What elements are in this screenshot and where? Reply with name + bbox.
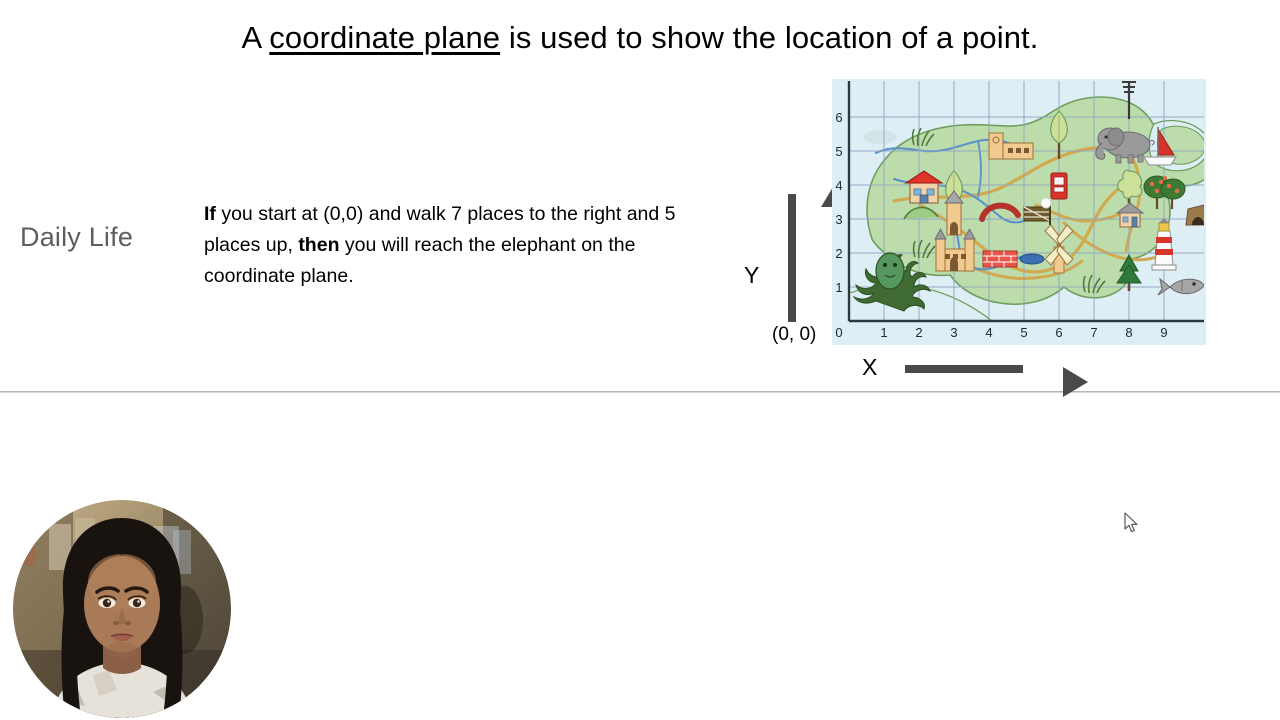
- svg-text:6: 6: [835, 110, 842, 125]
- svg-text:7: 7: [1090, 325, 1097, 340]
- svg-text:4: 4: [985, 325, 992, 340]
- svg-text:2: 2: [835, 246, 842, 261]
- body-lead-bold: If: [204, 203, 216, 225]
- title-emphasis: coordinate plane: [269, 20, 500, 55]
- x-axis-annotation: X: [862, 352, 1062, 392]
- y-axis-label: Y: [744, 262, 759, 289]
- svg-text:6: 6: [1055, 325, 1062, 340]
- svg-text:1: 1: [880, 325, 887, 340]
- svg-text:5: 5: [1020, 325, 1027, 340]
- svg-text:3: 3: [950, 325, 957, 340]
- section-divider: [0, 391, 1280, 392]
- svg-text:8: 8: [1125, 325, 1132, 340]
- svg-text:9: 9: [1160, 325, 1167, 340]
- presenter-video-thumbnail[interactable]: [13, 500, 231, 718]
- svg-text:2: 2: [915, 325, 922, 340]
- body-paragraph: If you start at (0,0) and walk 7 places …: [204, 199, 710, 292]
- coordinate-plane-map: 0 1 2 3 4 5 6 7 8 9 1 2 3 4 5 6: [832, 79, 1206, 345]
- category-label: Daily Life: [20, 222, 133, 253]
- title-prefix: A: [242, 20, 270, 55]
- title-suffix: is used to show the location of a point.: [500, 20, 1038, 55]
- svg-text:3: 3: [835, 212, 842, 227]
- body-mid-bold: then: [298, 234, 339, 256]
- page-title: A coordinate plane is used to show the l…: [0, 20, 1280, 56]
- x-axis-label: X: [862, 354, 877, 381]
- up-arrow-icon: [788, 194, 796, 322]
- right-arrow-icon: [905, 365, 1023, 373]
- svg-text:5: 5: [835, 144, 842, 159]
- right-arrow-head-icon: [1063, 367, 1088, 397]
- svg-text:1: 1: [835, 280, 842, 295]
- origin-label: (0, 0): [772, 324, 816, 346]
- svg-text:0: 0: [835, 325, 842, 340]
- mouse-pointer-icon: [1124, 512, 1140, 534]
- svg-text:4: 4: [835, 178, 842, 193]
- y-axis-annotation: Y (0, 0): [744, 188, 844, 348]
